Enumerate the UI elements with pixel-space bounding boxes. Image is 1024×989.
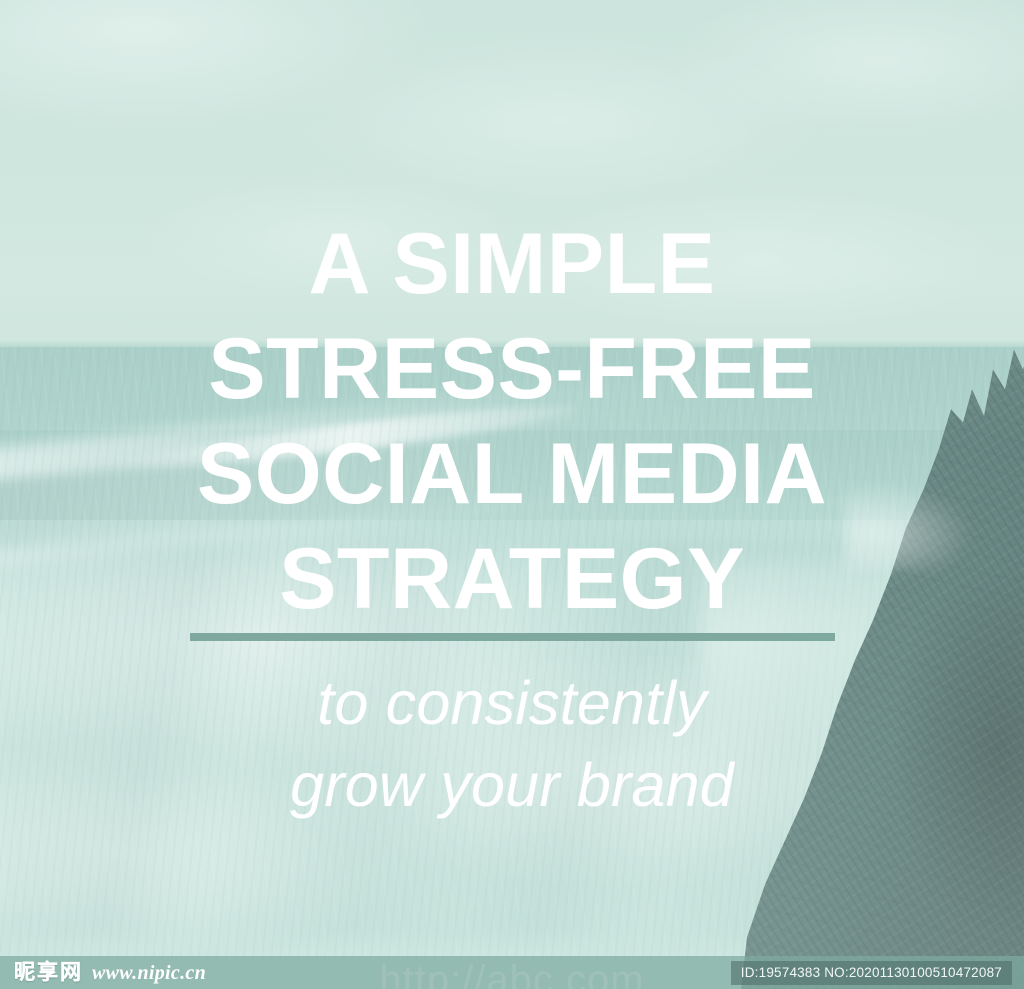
- watermark-site-url: www.nipic.cn: [92, 963, 206, 983]
- poster-canvas: A SIMPLE STRESS-FREE SOCIAL MEDIA STRATE…: [0, 0, 1024, 989]
- poster-content: A SIMPLE STRESS-FREE SOCIAL MEDIA STRATE…: [0, 0, 1024, 989]
- watermark-bar: 昵享网 www.nipic.cn ID:19574383 NO:20201130…: [0, 956, 1024, 989]
- divider-rule: [190, 633, 835, 641]
- subheadline: to consistently grow your brand: [0, 662, 1024, 826]
- headline-line-1: A SIMPLE: [0, 212, 1024, 317]
- headline-line-4: STRATEGY: [0, 527, 1024, 632]
- watermark-id-badge: ID:19574383 NO:20201130100510472087: [731, 961, 1012, 985]
- headline-line-3: SOCIAL MEDIA: [0, 422, 1024, 527]
- headline: A SIMPLE STRESS-FREE SOCIAL MEDIA STRATE…: [0, 212, 1024, 632]
- headline-line-2: STRESS-FREE: [0, 317, 1024, 422]
- subheadline-line-1: to consistently: [0, 662, 1024, 744]
- watermark-logo: 昵享网 www.nipic.cn: [14, 962, 206, 983]
- subheadline-line-2: grow your brand: [0, 744, 1024, 826]
- nipic-logo-icon: 昵享网: [14, 962, 83, 983]
